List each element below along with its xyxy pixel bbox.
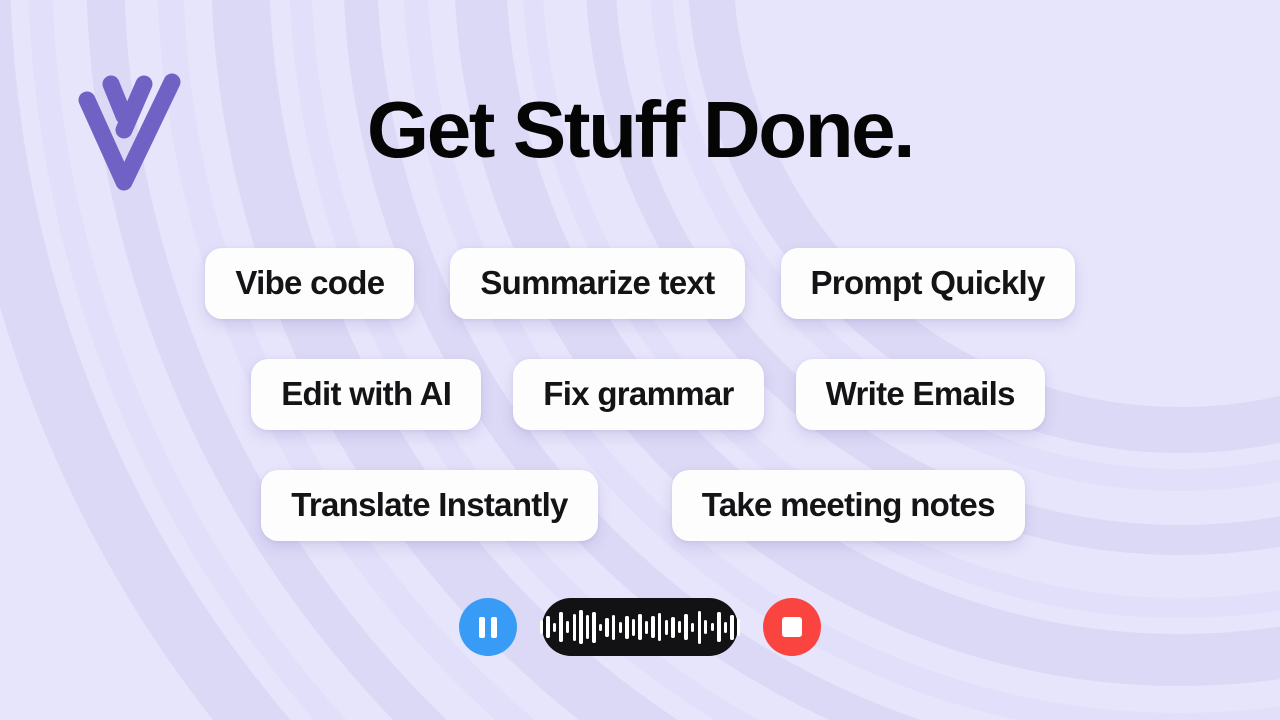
waveform-bar (730, 615, 733, 640)
action-pill-groups: Vibe code Summarize text Prompt Quickly … (0, 248, 1280, 541)
waveform-bar (592, 612, 595, 643)
waveform-bar (566, 621, 569, 633)
waveform-bar (651, 616, 654, 638)
waveform-bar (540, 620, 543, 634)
waveform-bar (678, 621, 681, 633)
waveform-bar (658, 613, 661, 641)
action-row-2: Edit with AI Fix grammar Write Emails (0, 359, 1280, 430)
waveform-bar (638, 614, 641, 640)
waveform-bar (632, 619, 635, 636)
waveform-bar (605, 618, 608, 637)
waveform-bar (546, 616, 549, 638)
action-vibe-code[interactable]: Vibe code (205, 248, 414, 319)
recorder-controls (0, 598, 1280, 656)
stop-button[interactable] (763, 598, 821, 656)
action-translate-instantly[interactable]: Translate Instantly (261, 470, 597, 541)
action-edit-with-ai[interactable]: Edit with AI (251, 359, 481, 430)
waveform-bar (573, 614, 576, 641)
action-fix-grammar[interactable]: Fix grammar (513, 359, 763, 430)
action-take-meeting-notes[interactable]: Take meeting notes (672, 470, 1025, 541)
waveform-bar (612, 615, 615, 640)
waveform-bar (737, 619, 740, 636)
waveform-bar (619, 622, 622, 633)
waveform-bar (671, 617, 674, 638)
waveform-bar (579, 610, 582, 644)
waveform-bar (553, 623, 556, 632)
waveform-bar (724, 622, 727, 633)
stop-icon (782, 617, 802, 637)
audio-waveform[interactable] (542, 598, 738, 656)
waveform-bar (586, 615, 589, 639)
waveform-bar (625, 616, 628, 639)
pause-icon (479, 617, 497, 638)
waveform-bar (559, 612, 562, 642)
waveform-bar (599, 624, 602, 631)
waveform-bar (704, 620, 707, 634)
action-summarize-text[interactable]: Summarize text (450, 248, 744, 319)
waveform-bar (698, 611, 701, 644)
waveform-bar (684, 614, 687, 640)
action-row-1: Vibe code Summarize text Prompt Quickly (0, 248, 1280, 319)
waveform-bar (645, 621, 648, 634)
action-prompt-quickly[interactable]: Prompt Quickly (781, 248, 1075, 319)
page-title: Get Stuff Done. (0, 82, 1280, 178)
waveform-bar (665, 620, 668, 635)
waveform-bar (717, 612, 720, 642)
page-stage: Get Stuff Done. Vibe code Summarize text… (0, 0, 1280, 720)
action-write-emails[interactable]: Write Emails (796, 359, 1045, 430)
waveform-bar (691, 623, 694, 632)
waveform-bar (711, 623, 714, 631)
action-row-3: Translate Instantly Take meeting notes (0, 470, 1280, 541)
pause-button[interactable] (459, 598, 517, 656)
